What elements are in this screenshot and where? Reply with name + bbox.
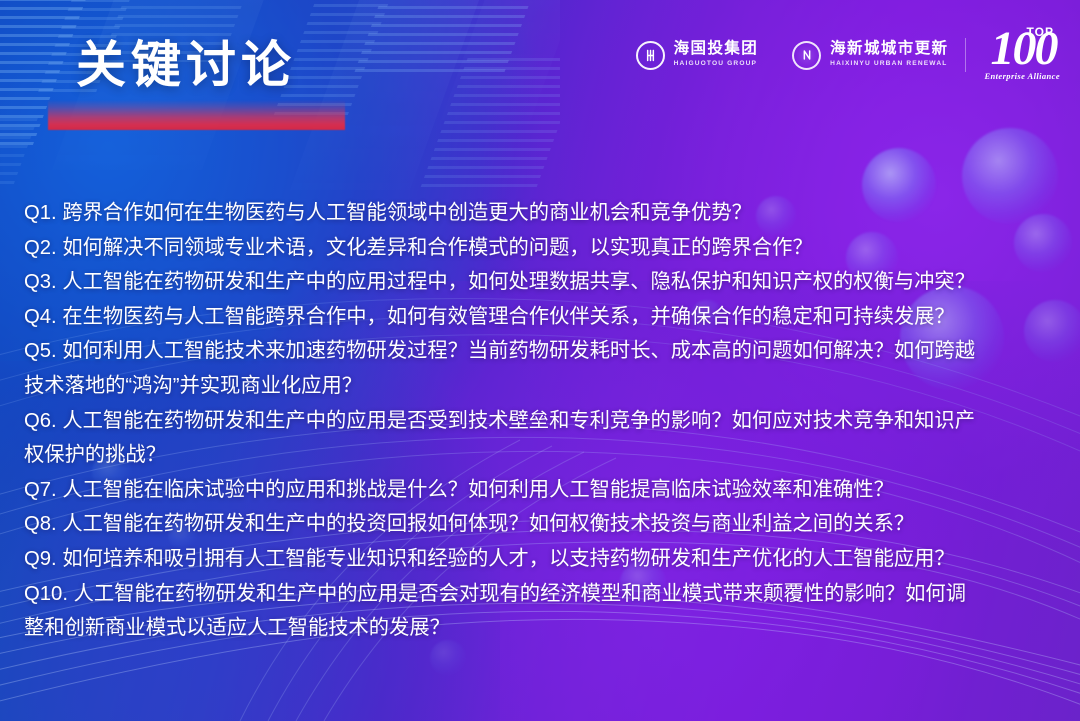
question-text: 如何解决不同领域专业术语，文化差异和合作模式的问题，以实现真正的跨界合作？ [62,237,812,259]
logo-name-cn: 海国投集团 [674,41,759,58]
question-label: Q9. [24,548,62,570]
question-item: Q3. 人工智能在药物研发和生产中的应用过程中，如何处理数据共享、隐私保护和知识… [24,265,1060,300]
question-label: Q4. [24,306,62,328]
presentation-slide: 关键讨论 海国投集团 HAIGUOTOU GROUP 海新城城市更新 [0,0,1080,721]
question-list: Q1. 跨界合作如何在生物医药与人工智能领域中创造更大的商业机会和竞争优势？Q2… [24,196,1060,646]
stripe-band [0,118,38,190]
question-line-first: Q8. 人工智能在药物研发和生产中的投资回报如何体现？如何权衡技术投资与商业利益… [24,507,1060,542]
logo-name-cn: 海新城城市更新 [830,41,948,58]
logo-name-en: HAIGUOTOU GROUP [674,59,759,69]
logo-haixinyu-urban-renewal: 海新城城市更新 HAIXINYU URBAN RENEWAL [775,41,965,70]
logo-name-en: HAIXINYU URBAN RENEWAL [830,59,948,69]
question-line-first: Q10. 人工智能在药物研发和生产中的应用是否会对现有的经济模型和商业模式带来颠… [24,577,1060,612]
question-line-continued: 技术落地的“鸿沟”并实现商业化应用？ [24,369,1060,404]
top100-top-word: TOP [1027,26,1054,38]
logo-haiguotou-group: 海国投集团 HAIGUOTOU GROUP [619,41,776,70]
question-item: Q1. 跨界合作如何在生物医药与人工智能领域中创造更大的商业机会和竞争优势？ [24,196,1060,231]
question-text: 在生物医药与人工智能跨界合作中，如何有效管理合作伙伴关系，并确保合作的稳定和可持… [62,306,954,328]
question-text: 人工智能在临床试验中的应用和挑战是什么？如何利用人工智能提高临床试验效率和准确性… [62,479,894,501]
question-text: 人工智能在药物研发和生产中的投资回报如何体现？如何权衡技术投资与商业利益之间的关… [62,513,914,535]
top100-subtitle: Enterprise Alliance [984,71,1060,81]
question-line-first: Q9. 如何培养和吸引拥有人工智能专业知识和经验的人才，以支持药物研发和生产优化… [24,542,1060,577]
logo-bar: 海国投集团 HAIGUOTOU GROUP 海新城城市更新 HAIXINYU U… [619,22,1066,88]
top100-numeral-one: 1 [991,29,1012,68]
title-underline-bar [48,100,345,130]
question-line-continued: 权保护的挑战？ [24,438,1060,473]
haiguotou-monogram-icon [636,41,665,70]
question-text: 如何培养和吸引拥有人工智能专业知识和经验的人才，以支持药物研发和生产优化的人工智… [62,548,954,570]
question-item: Q7. 人工智能在临床试验中的应用和挑战是什么？如何利用人工智能提高临床试验效率… [24,473,1060,508]
question-text: 如何利用人工智能技术来加速药物研发过程？当前药物研发耗时长、成本高的问题如何解决… [62,340,975,362]
question-label: Q6. [24,410,62,432]
question-item: Q5. 如何利用人工智能技术来加速药物研发过程？当前药物研发耗时长、成本高的问题… [24,334,1060,403]
question-line-first: Q5. 如何利用人工智能技术来加速药物研发过程？当前药物研发耗时长、成本高的问题… [24,334,1060,369]
stripe-plate [441,0,560,120]
question-item: Q9. 如何培养和吸引拥有人工智能专业知识和经验的人才，以支持药物研发和生产优化… [24,542,1060,577]
question-item: Q6. 人工智能在药物研发和生产中的应用是否受到技术壁垒和专利竞争的影响？如何应… [24,404,1060,473]
question-text: 技术落地的“鸿沟”并实现商业化应用？ [24,375,362,397]
question-text: 人工智能在药物研发和生产中的应用是否受到技术壁垒和专利竞争的影响？如何应对技术竞… [62,410,975,432]
question-label: Q2. [24,237,62,259]
question-item: Q8. 人工智能在药物研发和生产中的投资回报如何体现？如何权衡技术投资与商业利益… [24,507,1060,542]
question-label: Q5. [24,340,62,362]
question-line-first: Q2. 如何解决不同领域专业术语，文化差异和合作模式的问题，以实现真正的跨界合作… [24,231,1060,266]
question-text: 整和创新商业模式以适应人工智能技术的发展？ [24,617,450,639]
question-line-first: Q3. 人工智能在药物研发和生产中的应用过程中，如何处理数据共享、隐私保护和知识… [24,265,1060,300]
question-line-first: Q1. 跨界合作如何在生物医药与人工智能领域中创造更大的商业机会和竞争优势？ [24,196,1060,231]
question-label: Q10. [24,583,74,605]
question-text: 跨界合作如何在生物医药与人工智能领域中创造更大的商业机会和竞争优势？ [62,202,752,224]
question-label: Q1. [24,202,62,224]
question-item: Q2. 如何解决不同领域专业术语，文化差异和合作模式的问题，以实现真正的跨界合作… [24,231,1060,266]
question-label: Q8. [24,513,62,535]
question-label: Q3. [24,271,62,293]
question-text: 人工智能在药物研发和生产中的应用是否会对现有的经济模型和商业模式带来颠覆性的影响… [74,583,966,605]
logo-top100-enterprise-alliance: 1 00 TOP Enterprise Alliance [966,29,1066,81]
question-item: Q4. 在生物医药与人工智能跨界合作中，如何有效管理合作伙伴关系，并确保合作的稳… [24,300,1060,335]
page-title: 关键讨论 [76,40,296,90]
question-line-first: Q7. 人工智能在临床试验中的应用和挑战是什么？如何利用人工智能提高临床试验效率… [24,473,1060,508]
question-label: Q7. [24,479,62,501]
question-line-first: Q4. 在生物医药与人工智能跨界合作中，如何有效管理合作伙伴关系，并确保合作的稳… [24,300,1060,335]
haixinyu-monogram-icon [792,41,821,70]
question-text: 人工智能在药物研发和生产中的应用过程中，如何处理数据共享、隐私保护和知识产权的权… [62,271,975,293]
slide-title-block: 关键讨论 [48,34,448,144]
question-text: 权保护的挑战？ [24,444,166,466]
question-line-continued: 整和创新商业模式以适应人工智能技术的发展？ [24,611,1060,646]
top100-numerals: 1 00 TOP [991,29,1054,68]
question-item: Q10. 人工智能在药物研发和生产中的应用是否会对现有的经济模型和商业模式带来颠… [24,577,1060,646]
question-line-first: Q6. 人工智能在药物研发和生产中的应用是否受到技术壁垒和专利竞争的影响？如何应… [24,404,1060,439]
